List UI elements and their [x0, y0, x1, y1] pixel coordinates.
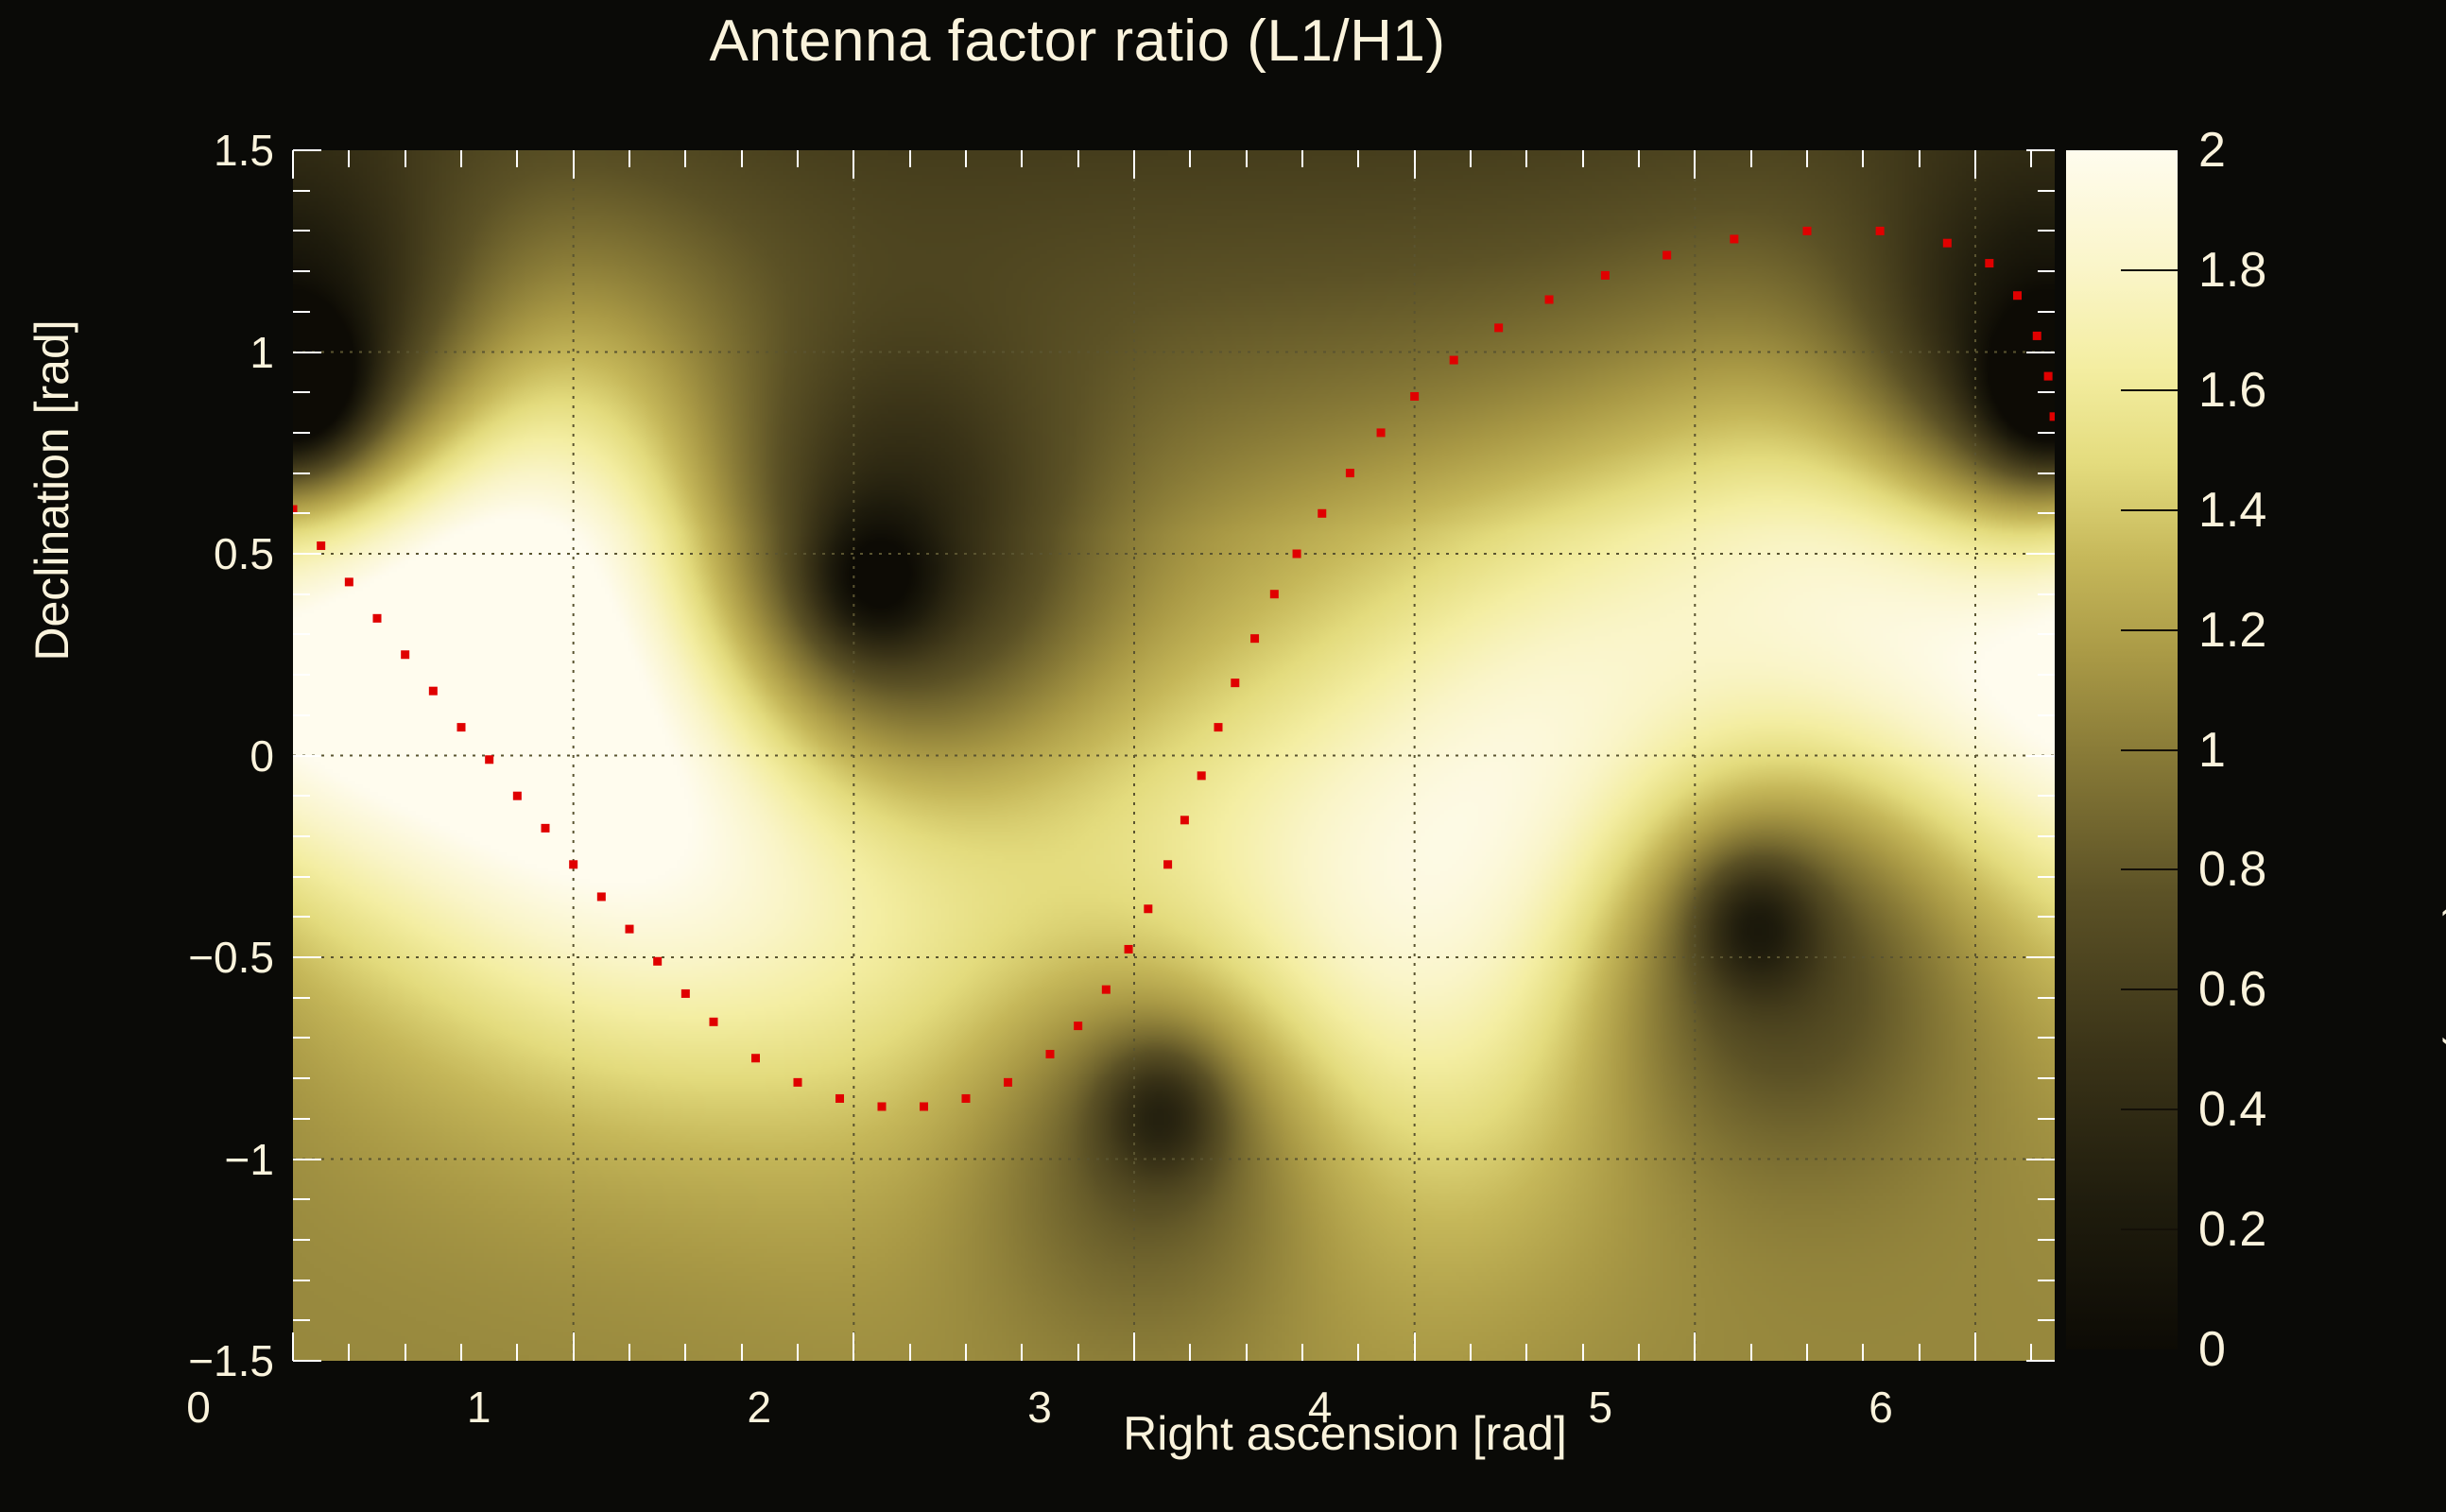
x-tick-label: 0	[104, 1382, 293, 1433]
y-tick-minor-right	[2038, 1077, 2055, 1079]
x-tick-minor-top	[1470, 150, 1472, 167]
y-tick-minor-right	[2038, 472, 2055, 474]
x-tick-minor	[1862, 1344, 1864, 1361]
y-tick-minor-right	[2038, 230, 2055, 232]
x-tick-major	[292, 1332, 294, 1361]
x-tick-minor-top	[1246, 150, 1248, 167]
x-tick-minor-top	[348, 150, 350, 167]
x-tick-minor-top	[1862, 150, 1864, 167]
x-tick-major-top	[1974, 150, 1976, 179]
y-tick-minor-right	[2038, 714, 2055, 716]
colorbar-tick-label: 1.6	[2198, 362, 2266, 419]
y-tick-minor-right	[2038, 1239, 2055, 1241]
y-tick-minor-right	[2038, 835, 2055, 837]
y-tick-major-right	[2026, 553, 2055, 555]
x-tick-minor	[1077, 1344, 1079, 1361]
y-axis-title: Declination [rad]	[25, 245, 79, 736]
y-tick-minor	[293, 876, 310, 878]
y-tick-major-right	[2026, 352, 2055, 353]
y-tick-major-right	[2026, 956, 2055, 958]
y-tick-major-right	[2026, 1159, 2055, 1160]
y-tick-minor-right	[2038, 270, 2055, 272]
y-tick-major	[293, 956, 321, 958]
x-tick-minor	[684, 1344, 686, 1361]
x-axis-title: Right ascension [rad]	[967, 1406, 1723, 1461]
x-tick-major-top	[573, 150, 575, 179]
x-tick-major	[853, 1332, 854, 1361]
x-tick-minor-top	[1806, 150, 1808, 167]
x-tick-minor-top	[1189, 150, 1191, 167]
x-tick-minor	[965, 1344, 967, 1361]
x-tick-minor	[405, 1344, 406, 1361]
y-tick-minor-right	[2038, 633, 2055, 635]
x-tick-major-top	[1133, 150, 1135, 179]
x-tick-minor	[1357, 1344, 1359, 1361]
y-tick-label: 1.5	[52, 125, 274, 176]
y-tick-minor	[293, 472, 310, 474]
x-tick-major	[1414, 1332, 1416, 1361]
heatmap-surface	[293, 150, 2055, 1361]
y-tick-minor-right	[2038, 432, 2055, 434]
colorbar[interactable]	[2066, 150, 2178, 1349]
x-tick-minor	[348, 1344, 350, 1361]
y-tick-minor-right	[2038, 1280, 2055, 1281]
y-tick-minor	[293, 633, 310, 635]
colorbar-tick-label: 0.6	[2198, 961, 2266, 1018]
y-tick-minor	[293, 916, 310, 918]
x-tick-minor-top	[741, 150, 743, 167]
y-tick-minor	[293, 1280, 310, 1281]
chart-canvas: Antenna factor ratio (L1/H1) −1.5−1−0.50…	[0, 0, 2446, 1512]
x-tick-minor-top	[1357, 150, 1359, 167]
x-tick-minor-top	[1919, 150, 1921, 167]
y-tick-minor-right	[2038, 512, 2055, 514]
x-tick-minor-top	[1077, 150, 1079, 167]
y-tick-minor-right	[2038, 593, 2055, 595]
x-tick-minor-top	[516, 150, 518, 167]
y-tick-minor	[293, 997, 310, 999]
y-tick-major	[293, 1159, 321, 1160]
x-tick-minor-top	[460, 150, 462, 167]
colorbar-tick-label: 0.8	[2198, 841, 2266, 898]
y-tick-minor	[293, 593, 310, 595]
y-tick-major	[293, 1360, 321, 1362]
x-tick-minor	[1470, 1344, 1472, 1361]
x-tick-minor-top	[2030, 150, 2032, 167]
x-tick-major-top	[1694, 150, 1696, 179]
y-tick-minor	[293, 190, 310, 192]
y-tick-minor-right	[2038, 876, 2055, 878]
x-tick-minor-top	[1301, 150, 1303, 167]
x-tick-minor	[1189, 1344, 1191, 1361]
colorbar-gradient	[2066, 150, 2178, 1349]
y-tick-label: −1.5	[52, 1335, 274, 1386]
y-tick-minor	[293, 1319, 310, 1321]
y-tick-minor	[293, 270, 310, 272]
x-tick-minor	[1750, 1344, 1752, 1361]
y-tick-minor-right	[2038, 997, 2055, 999]
y-tick-minor	[293, 1077, 310, 1079]
y-tick-minor-right	[2038, 1319, 2055, 1321]
colorbar-tick-label: 1.8	[2198, 242, 2266, 299]
heatmap-plot-area[interactable]	[293, 150, 2055, 1361]
chart-title: Antenna factor ratio (L1/H1)	[0, 8, 2155, 75]
y-tick-minor-right	[2038, 311, 2055, 313]
y-tick-minor	[293, 230, 310, 232]
y-tick-minor	[293, 391, 310, 393]
y-tick-minor	[293, 835, 310, 837]
x-tick-major	[1694, 1332, 1696, 1361]
x-tick-minor-top	[909, 150, 911, 167]
colorbar-title: Antenna factor ratio (L1/H1)	[2441, 348, 2446, 1198]
x-tick-minor	[629, 1344, 630, 1361]
x-tick-minor-top	[405, 150, 406, 167]
colorbar-tick-label: 1.2	[2198, 602, 2266, 659]
y-tick-minor-right	[2038, 1118, 2055, 1120]
y-tick-minor	[293, 1037, 310, 1039]
x-tick-major	[1133, 1332, 1135, 1361]
x-tick-minor	[797, 1344, 799, 1361]
x-tick-minor	[1582, 1344, 1584, 1361]
y-tick-minor	[293, 432, 310, 434]
y-tick-minor-right	[2038, 916, 2055, 918]
x-tick-minor	[1301, 1344, 1303, 1361]
x-tick-minor-top	[1750, 150, 1752, 167]
colorbar-tick-label: 0	[2198, 1321, 2226, 1378]
y-tick-minor	[293, 714, 310, 716]
y-tick-major	[293, 352, 321, 353]
x-tick-minor	[460, 1344, 462, 1361]
x-tick-minor	[1246, 1344, 1248, 1361]
x-tick-minor	[741, 1344, 743, 1361]
x-tick-minor-top	[797, 150, 799, 167]
x-tick-minor-top	[1525, 150, 1527, 167]
x-tick-major	[1974, 1332, 1976, 1361]
y-tick-minor	[293, 674, 310, 676]
colorbar-tick-label: 0.2	[2198, 1201, 2266, 1258]
x-tick-minor-top	[1582, 150, 1584, 167]
x-tick-major	[573, 1332, 575, 1361]
x-tick-minor	[1806, 1344, 1808, 1361]
colorbar-tick-label: 1	[2198, 722, 2226, 779]
x-tick-minor-top	[1638, 150, 1640, 167]
y-tick-major-right	[2026, 755, 2055, 757]
x-tick-minor	[1021, 1344, 1023, 1361]
colorbar-tick-label: 1.4	[2198, 482, 2266, 539]
y-tick-minor-right	[2038, 795, 2055, 797]
y-tick-label: 0	[52, 730, 274, 782]
x-tick-major-top	[1414, 150, 1416, 179]
x-tick-minor-top	[684, 150, 686, 167]
y-tick-label: 0.5	[52, 528, 274, 579]
x-tick-minor-top	[965, 150, 967, 167]
y-tick-minor	[293, 311, 310, 313]
x-tick-minor-top	[1021, 150, 1023, 167]
y-tick-major	[293, 149, 321, 151]
y-tick-minor-right	[2038, 1037, 2055, 1039]
x-tick-minor	[909, 1344, 911, 1361]
y-tick-label: −0.5	[52, 932, 274, 983]
x-tick-label: 2	[664, 1382, 853, 1433]
y-tick-minor	[293, 1239, 310, 1241]
y-tick-minor-right	[2038, 190, 2055, 192]
x-tick-minor	[1919, 1344, 1921, 1361]
y-tick-label: −1	[52, 1134, 274, 1185]
x-tick-minor	[1638, 1344, 1640, 1361]
x-tick-major-top	[853, 150, 854, 179]
y-tick-minor	[293, 1118, 310, 1120]
y-tick-minor-right	[2038, 391, 2055, 393]
x-tick-major-top	[292, 150, 294, 179]
y-tick-minor-right	[2038, 674, 2055, 676]
colorbar-tick-label: 0.4	[2198, 1081, 2266, 1138]
y-tick-minor-right	[2038, 1198, 2055, 1200]
x-tick-minor	[516, 1344, 518, 1361]
x-tick-minor	[2030, 1344, 2032, 1361]
x-tick-minor	[1525, 1344, 1527, 1361]
x-tick-label: 1	[385, 1382, 574, 1433]
y-tick-label: 1	[52, 327, 274, 378]
y-tick-major	[293, 755, 321, 757]
y-tick-major	[293, 553, 321, 555]
y-tick-minor	[293, 795, 310, 797]
colorbar-tick-label: 2	[2198, 122, 2226, 179]
y-tick-minor	[293, 512, 310, 514]
y-tick-minor	[293, 1198, 310, 1200]
x-tick-minor-top	[629, 150, 630, 167]
x-tick-label: 6	[1786, 1382, 1975, 1433]
